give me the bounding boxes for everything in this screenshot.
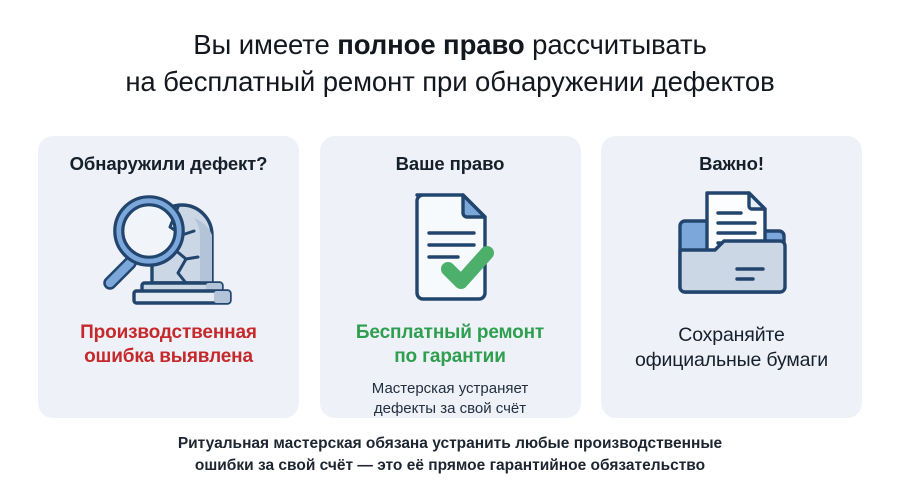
card-main-text: Сохраняйте официальные бумаги (635, 323, 828, 373)
card-important: Важно! (601, 136, 862, 418)
card-title: Обнаружили дефект? (70, 152, 268, 176)
magnifier-cracked-gravestone-icon (94, 187, 244, 305)
card-main-text-line-2: официальные бумаги (635, 349, 828, 371)
card-main-text: Производственная ошибка выявлена (80, 321, 257, 369)
card-title: Важно! (699, 152, 764, 176)
card-main-text-line-1: Бесплатный ремонт (356, 322, 544, 343)
cards-row: Обнаружили дефект? (38, 136, 862, 418)
footer-note-line-2: ошибки за свой счёт — это её прямое гара… (0, 455, 900, 477)
footer-note: Ритуальная мастерская обязана устранить … (0, 433, 900, 477)
page-title-line-2: на бесплатный ремонт при обнаружении деф… (0, 63, 900, 100)
card-defect-found: Обнаружили дефект? (38, 136, 299, 418)
page-title-line-1-pre: Вы имеете (193, 29, 337, 60)
page-title: Вы имеете полное право рассчитывать на б… (0, 26, 900, 100)
card-sub-text-line-1: Мастерская устраняет (372, 380, 528, 397)
page-title-line-1-post: рассчитывать (525, 29, 707, 60)
card-sub-text-line-2: дефекты за свой счёт (374, 400, 526, 417)
card-your-right: Ваше право Бесплатный ремонт по гарантии (320, 136, 581, 418)
footer-note-line-1: Ритуальная мастерская обязана устранить … (0, 433, 900, 455)
card-main-text-line-2: ошибка выявлена (84, 346, 253, 367)
folder-document-icon (667, 187, 797, 305)
page-title-line-1-emphasis: полное право (337, 29, 524, 60)
card-sub-text: Мастерская устраняет дефекты за свой счё… (372, 379, 528, 419)
card-main-text: Бесплатный ремонт по гарантии (356, 321, 544, 369)
document-check-icon (395, 187, 505, 305)
card-title: Ваше право (396, 152, 505, 176)
card-main-text-line-1: Производственная (80, 322, 257, 343)
card-main-text-line-2: по гарантии (394, 346, 506, 367)
page-title-line-1: Вы имеете полное право рассчитывать (0, 26, 900, 63)
card-main-text-line-1: Сохраняйте (678, 324, 784, 346)
